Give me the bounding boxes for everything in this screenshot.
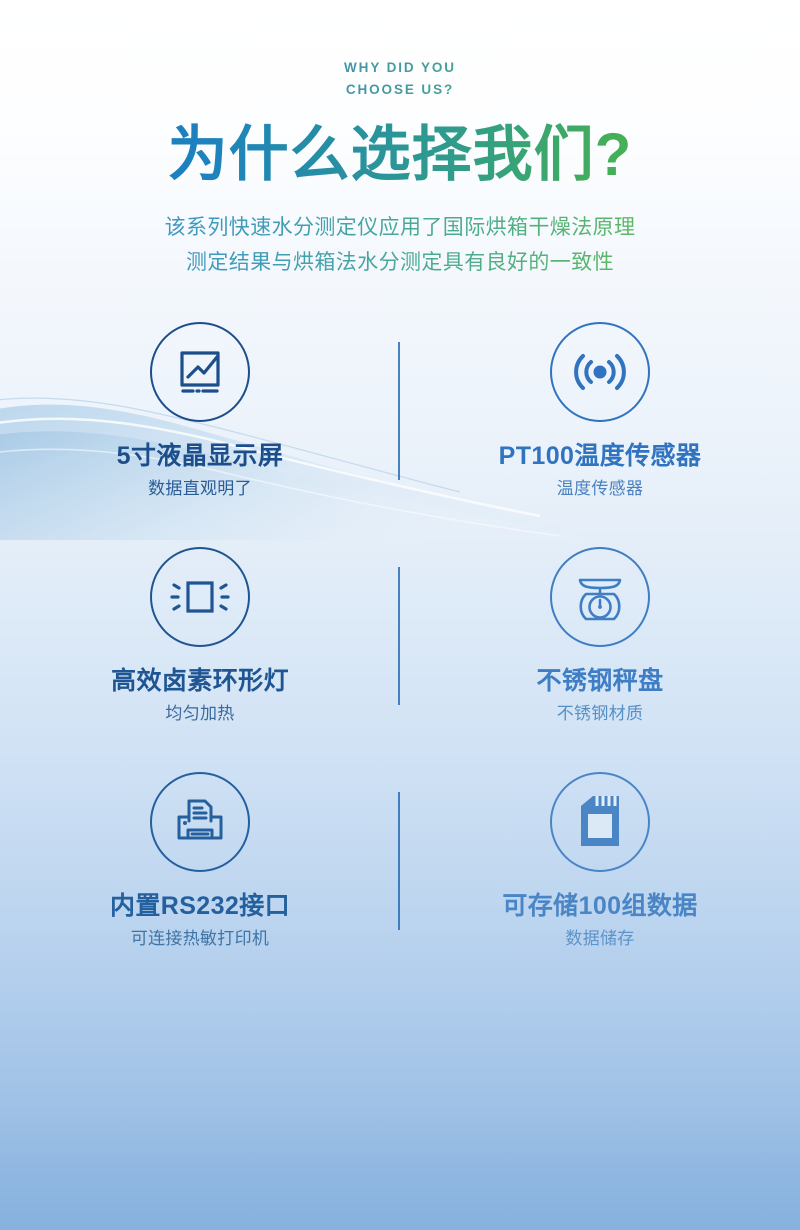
monitor-chart-icon bbox=[150, 322, 250, 422]
page-title: 为什么选择我们? bbox=[0, 118, 800, 192]
feature-item-temperature-sensor: PT100温度传感器 温度传感器 bbox=[400, 318, 800, 500]
feature-title: 可存储100组数据 bbox=[502, 891, 697, 921]
signal-sensor-icon bbox=[550, 322, 650, 422]
feature-item-data-storage: 可存储100组数据 数据储存 bbox=[400, 768, 800, 950]
feature-subtitle: 温度传感器 bbox=[557, 478, 644, 500]
feature-subtitle: 数据储存 bbox=[565, 928, 634, 950]
description-line-2: 测定结果与烘箱法水分测定具有良好的一致性 bbox=[0, 245, 800, 280]
printer-icon bbox=[150, 772, 250, 872]
feature-subtitle: 可连接热敏打印机 bbox=[131, 928, 269, 950]
description-line-1: 该系列快速水分测定仪应用了国际烘箱干燥法原理 bbox=[0, 210, 800, 245]
feature-item-display: 5寸液晶显示屏 数据直观明了 bbox=[0, 318, 400, 500]
kicker-line-1: WHY DID YOU bbox=[0, 57, 800, 79]
feature-item-rs232-port: 内置RS232接口 可连接热敏打印机 bbox=[0, 768, 400, 950]
feature-subtitle: 数据直观明了 bbox=[148, 478, 252, 500]
halogen-lamp-icon bbox=[150, 547, 250, 647]
feature-subtitle: 不锈钢材质 bbox=[557, 703, 644, 725]
feature-title: 5寸液晶显示屏 bbox=[117, 441, 284, 471]
feature-item-weighing-pan: 不锈钢秤盘 不锈钢材质 bbox=[400, 543, 800, 725]
weighing-scale-icon bbox=[550, 547, 650, 647]
feature-title: 内置RS232接口 bbox=[110, 891, 290, 921]
section-kicker: WHY DID YOU CHOOSE US? bbox=[0, 57, 800, 101]
promo-page: WHY DID YOU CHOOSE US? 为什么选择我们? 该系列快速水分测… bbox=[0, 0, 800, 1230]
kicker-line-2: CHOOSE US? bbox=[0, 79, 800, 101]
feature-item-halogen-lamp: 高效卤素环形灯 均匀加热 bbox=[0, 543, 400, 725]
feature-title: 不锈钢秤盘 bbox=[536, 666, 663, 696]
memory-card-icon bbox=[550, 772, 650, 872]
section-description: 该系列快速水分测定仪应用了国际烘箱干燥法原理 测定结果与烘箱法水分测定具有良好的… bbox=[0, 210, 800, 280]
feature-grid: 5寸液晶显示屏 数据直观明了 PT100温度传感器 温度传感器 bbox=[0, 318, 800, 950]
feature-title: 高效卤素环形灯 bbox=[111, 666, 289, 696]
feature-subtitle: 均匀加热 bbox=[165, 703, 234, 725]
feature-title: PT100温度传感器 bbox=[499, 441, 702, 471]
